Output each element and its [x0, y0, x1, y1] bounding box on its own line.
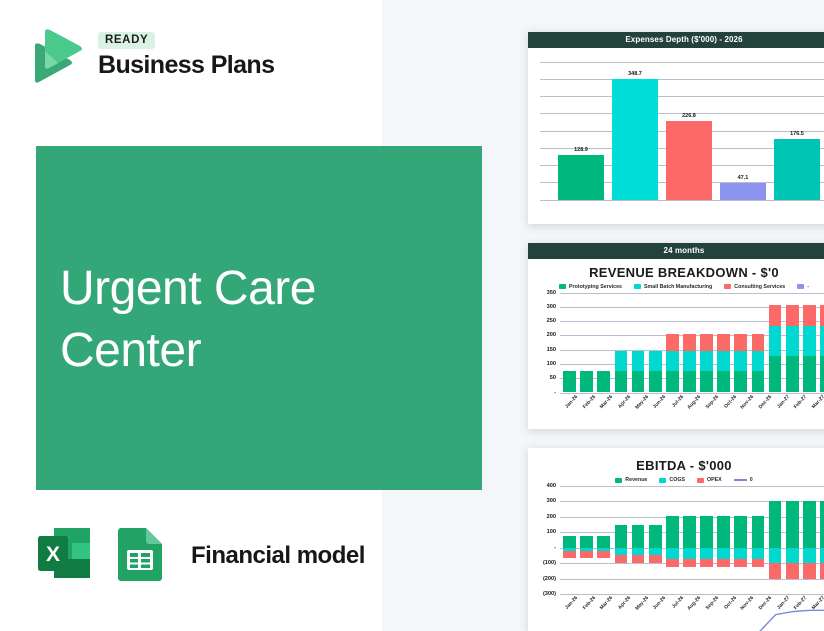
play-triangle-logo	[24, 24, 86, 86]
y-tick-label: 150	[547, 347, 556, 353]
chart-card-expenses[interactable]: Expenses Depth ($'000) - 2026 128.9348.7…	[528, 32, 824, 224]
bar-segment	[666, 334, 679, 351]
legend-label: Prototyping Services	[569, 284, 622, 290]
legend-item[interactable]: OPEX	[697, 477, 722, 483]
bar-segment	[666, 351, 679, 371]
bar: 47.1	[720, 183, 766, 199]
bar-column	[801, 293, 817, 393]
footer-label: Financial model	[191, 542, 365, 570]
bar-column	[750, 293, 766, 393]
bars-expenses: 128.9348.7226.847.1176.5	[554, 62, 824, 200]
y-tick-label: (200)	[543, 576, 556, 582]
x-axis-ebitda: Jan-26Feb-26Mar-26Apr-26May-26Jun-26Jul-…	[556, 594, 824, 601]
bar-segment	[769, 356, 782, 393]
y-tick-label: 200	[547, 514, 556, 520]
bar-segment	[752, 371, 765, 393]
footer-formats: X Financial model	[33, 522, 365, 589]
microsoft-excel-icon: X	[33, 522, 95, 589]
legend-item[interactable]: 0	[734, 477, 753, 483]
bar-segment	[649, 351, 662, 371]
y-tick-label: 250	[547, 318, 556, 324]
x-tick-label: Mar-27	[810, 394, 824, 411]
bar-segment	[717, 334, 730, 351]
bar-segment	[734, 371, 747, 393]
bar-column	[716, 293, 732, 393]
chart-plot-revenue-breakdown: 35030025020015010050-	[532, 293, 824, 393]
legend-item[interactable]: COGS	[659, 477, 685, 483]
x-tick-label: Apr-26	[616, 394, 632, 411]
chart-plot-ebitda: 400300200100-(100)(200)(300)	[532, 486, 824, 594]
y-tick-label: (100)	[543, 560, 556, 566]
bar-column	[664, 293, 680, 393]
bar-column	[681, 293, 697, 393]
y-tick-label: 400	[547, 483, 556, 489]
bar-segment	[717, 351, 730, 371]
bar-segment	[666, 371, 679, 393]
x-tick-label: Dec-26	[757, 394, 773, 411]
x-tick-label: Jan-26	[563, 394, 579, 411]
bar-value-label: 47.1	[738, 175, 749, 181]
legend-item[interactable]: Revenue	[615, 477, 647, 483]
x-tick-label: Feb-26	[580, 394, 596, 411]
bar-column	[613, 293, 629, 393]
y-axis-revenue-breakdown: 35030025020015010050-	[532, 293, 558, 393]
bar-column	[562, 293, 578, 393]
bar: 128.9	[558, 155, 604, 199]
google-sheets-icon	[112, 522, 168, 589]
bar-segment	[734, 334, 747, 351]
legend-swatch	[697, 478, 704, 483]
legend-swatch	[734, 479, 747, 481]
bar-fill	[720, 183, 766, 199]
chart-card-ebitda[interactable]: EBITDA - $'000 RevenueCOGSOPEX0 40030020…	[528, 448, 824, 631]
bar-segment	[615, 371, 628, 393]
legend-item[interactable]: Consulting Services	[724, 284, 785, 290]
chart-title-revenue-breakdown: REVENUE BREAKDOWN - $'0	[528, 259, 824, 282]
legend-item[interactable]: Small Batch Manufacturing	[634, 284, 712, 290]
x-tick-label: May-26	[633, 394, 649, 411]
bar-segment	[700, 351, 713, 371]
bar-column	[579, 293, 595, 393]
bar-segment	[683, 371, 696, 393]
slide-canvas: READY Business Plans Urgent Care Center …	[0, 0, 824, 631]
bar-column	[767, 293, 783, 393]
y-tick-label: 300	[547, 498, 556, 504]
bar: 176.5	[774, 139, 820, 200]
bar-segment	[769, 326, 782, 356]
chart-legend-revenue-breakdown: Prototyping ServicesSmall Batch Manufact…	[528, 282, 824, 293]
brand-text: READY Business Plans	[98, 32, 274, 78]
bar-segment	[786, 305, 799, 326]
bar-segment	[769, 305, 782, 326]
legend-item[interactable]: Prototyping Services	[559, 284, 622, 290]
brand-lockup: READY Business Plans	[24, 24, 274, 86]
chart-legend-ebitda: RevenueCOGSOPEX0	[528, 475, 824, 486]
bar-segment	[683, 351, 696, 371]
chart-banner-24-months: 24 months	[528, 243, 824, 259]
bar-segment	[597, 371, 610, 392]
y-axis-ebitda: 400300200100-(100)(200)(300)	[532, 486, 558, 594]
bar-segment	[786, 326, 799, 356]
bar-segment	[632, 351, 645, 371]
y-tick-label: (300)	[543, 591, 556, 597]
page-title: Urgent Care Center	[60, 258, 400, 383]
bar-segment	[700, 334, 713, 351]
bar-segment	[734, 351, 747, 371]
chart-card-revenue-breakdown[interactable]: 24 months REVENUE BREAKDOWN - $'0 Protot…	[528, 243, 824, 429]
bar-segment	[820, 356, 824, 393]
legend-label: 0	[750, 477, 753, 483]
bar-segment	[820, 305, 824, 326]
bar-segment	[752, 351, 765, 371]
legend-swatch	[659, 478, 666, 483]
legend-swatch	[615, 478, 622, 483]
legend-swatch	[724, 284, 731, 289]
bar-segment	[615, 351, 628, 371]
bar-segment	[820, 326, 824, 356]
bar-value-label: 128.9	[574, 147, 588, 153]
bar-fill	[666, 121, 712, 199]
bar-column	[630, 293, 646, 393]
bar-column	[733, 293, 749, 393]
x-tick-label: Mar-26	[598, 394, 614, 411]
bar-fill	[558, 155, 604, 199]
x-tick-label: Aug-26	[686, 394, 702, 411]
chart-title-expenses: Expenses Depth ($'000) - 2026	[528, 32, 824, 48]
bar-fill	[774, 139, 820, 200]
legend-label: COGS	[669, 477, 685, 483]
legend-label: Small Batch Manufacturing	[644, 284, 712, 290]
x-tick-label: Jan-27	[774, 394, 790, 411]
y-tick-label: 300	[547, 304, 556, 310]
legend-item[interactable]: -	[797, 284, 809, 290]
y-tick-label: 350	[547, 290, 556, 296]
legend-label: Consulting Services	[734, 284, 785, 290]
bar-segment	[803, 326, 816, 356]
bar-segment	[563, 371, 576, 392]
bar-segment	[683, 334, 696, 351]
x-tick-label: Feb-27	[792, 394, 808, 411]
bar-segment	[803, 305, 816, 326]
bar-value-label: 348.7	[628, 71, 642, 77]
legend-label: Revenue	[625, 477, 647, 483]
bar-segment	[580, 371, 593, 392]
svg-text:X: X	[46, 543, 60, 566]
y-tick-label: 200	[547, 332, 556, 338]
y-tick-label: -	[554, 545, 556, 551]
x-axis-revenue-breakdown: Jan-26Feb-26Mar-26Apr-26May-26Jun-26Jul-…	[556, 393, 824, 400]
bar-value-label: 176.5	[790, 131, 804, 137]
bar-column	[596, 293, 612, 393]
bar-segment	[700, 371, 713, 393]
bar-value-label: 226.8	[682, 113, 696, 119]
x-tick-label: Nov-26	[739, 394, 755, 411]
x-tick-label: Oct-26	[721, 394, 737, 411]
bar: 348.7	[612, 79, 658, 199]
legend-label: OPEX	[707, 477, 722, 483]
y-tick-label: 50	[550, 375, 556, 381]
brand-name: Business Plans	[98, 52, 274, 78]
bars-revenue-breakdown	[560, 293, 824, 393]
bar-fill	[612, 79, 658, 199]
x-tick-label: Sep-26	[704, 394, 720, 411]
bar-column	[647, 293, 663, 393]
legend-swatch	[634, 284, 641, 289]
bar: 226.8	[666, 121, 712, 199]
bar-segment	[632, 371, 645, 393]
ready-badge: READY	[98, 32, 155, 49]
bar-segment	[786, 356, 799, 393]
legend-swatch	[797, 284, 804, 289]
bar-column	[818, 293, 824, 393]
legend-label: -	[807, 284, 809, 290]
chart-title-ebitda: EBITDA - $'000	[528, 448, 824, 475]
x-tick-label: Jun-26	[651, 394, 667, 411]
legend-swatch	[559, 284, 566, 289]
bar-column	[784, 293, 800, 393]
bar-column	[699, 293, 715, 393]
gridline	[540, 200, 824, 201]
bar-segment	[752, 334, 765, 351]
x-tick-label: Jul-26	[669, 394, 685, 411]
bar-segment	[803, 356, 816, 393]
y-tick-label: 100	[547, 361, 556, 367]
bar-segment	[717, 371, 730, 393]
chart-plot-expenses: 128.9348.7226.847.1176.5	[540, 50, 824, 208]
bar-segment	[649, 371, 662, 393]
y-tick-label: 100	[547, 529, 556, 535]
